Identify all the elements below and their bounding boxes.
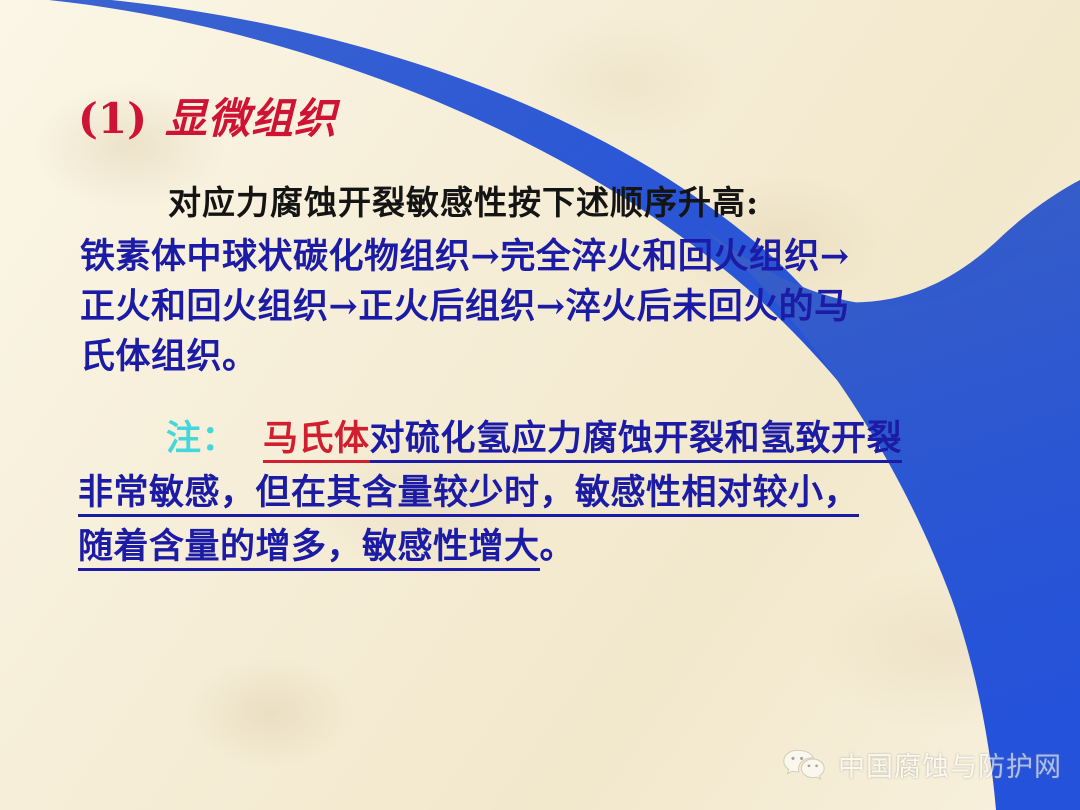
page-title: (1)显微组织 <box>78 85 337 146</box>
note-line-3-tail: 。 <box>540 526 576 567</box>
note-line-1: 注：马氏体对硫化氢应力腐蚀开裂和氢致开裂 <box>78 412 978 466</box>
note-line-3-text: 随着含量的增多，敏感性增大 <box>78 526 540 571</box>
note-line-2: 非常敏感，但在其含量较少时，敏感性相对较小， <box>78 466 978 520</box>
note-line-3: 随着含量的增多，敏感性增大。 <box>78 520 978 574</box>
sequence-line-1: 铁素体中球状碳化物组织→完全淬火和回火组织→ <box>80 232 960 282</box>
sequence-line-3: 氏体组织。 <box>80 332 960 382</box>
sequence-paragraph: 铁素体中球状碳化物组织→完全淬火和回火组织→ 正火和回火组织→正火后组织→淬火后… <box>80 232 960 382</box>
watermark-text: 中国腐蚀与防护网 <box>838 745 1062 784</box>
slide-content: (1)显微组织 对应力腐蚀开裂敏感性按下述顺序升高: 铁素体中球状碳化物组织→完… <box>0 0 1080 810</box>
note-paragraph: 注：马氏体对硫化氢应力腐蚀开裂和氢致开裂 非常敏感，但在其含量较少时，敏感性相对… <box>78 412 978 574</box>
wechat-icon <box>782 748 826 782</box>
note-line-1-rest: 对硫化氢应力腐蚀开裂和氢致开裂 <box>370 418 903 463</box>
note-keyword: 马氏体 <box>263 418 370 463</box>
sequence-line-2: 正火和回火组织→正火后组织→淬火后未回火的马 <box>80 282 960 332</box>
note-label: 注： <box>166 418 237 459</box>
title-text: 显微组织 <box>165 94 337 143</box>
lead-sentence: 对应力腐蚀开裂敏感性按下述顺序升高: <box>168 176 759 224</box>
note-line-2-text: 非常敏感，但在其含量较少时，敏感性相对较小， <box>78 472 859 517</box>
slide-canvas: (1)显微组织 对应力腐蚀开裂敏感性按下述顺序升高: 铁素体中球状碳化物组织→完… <box>0 0 1080 810</box>
watermark: 中国腐蚀与防护网 <box>782 745 1062 784</box>
title-number: (1) <box>78 94 147 143</box>
